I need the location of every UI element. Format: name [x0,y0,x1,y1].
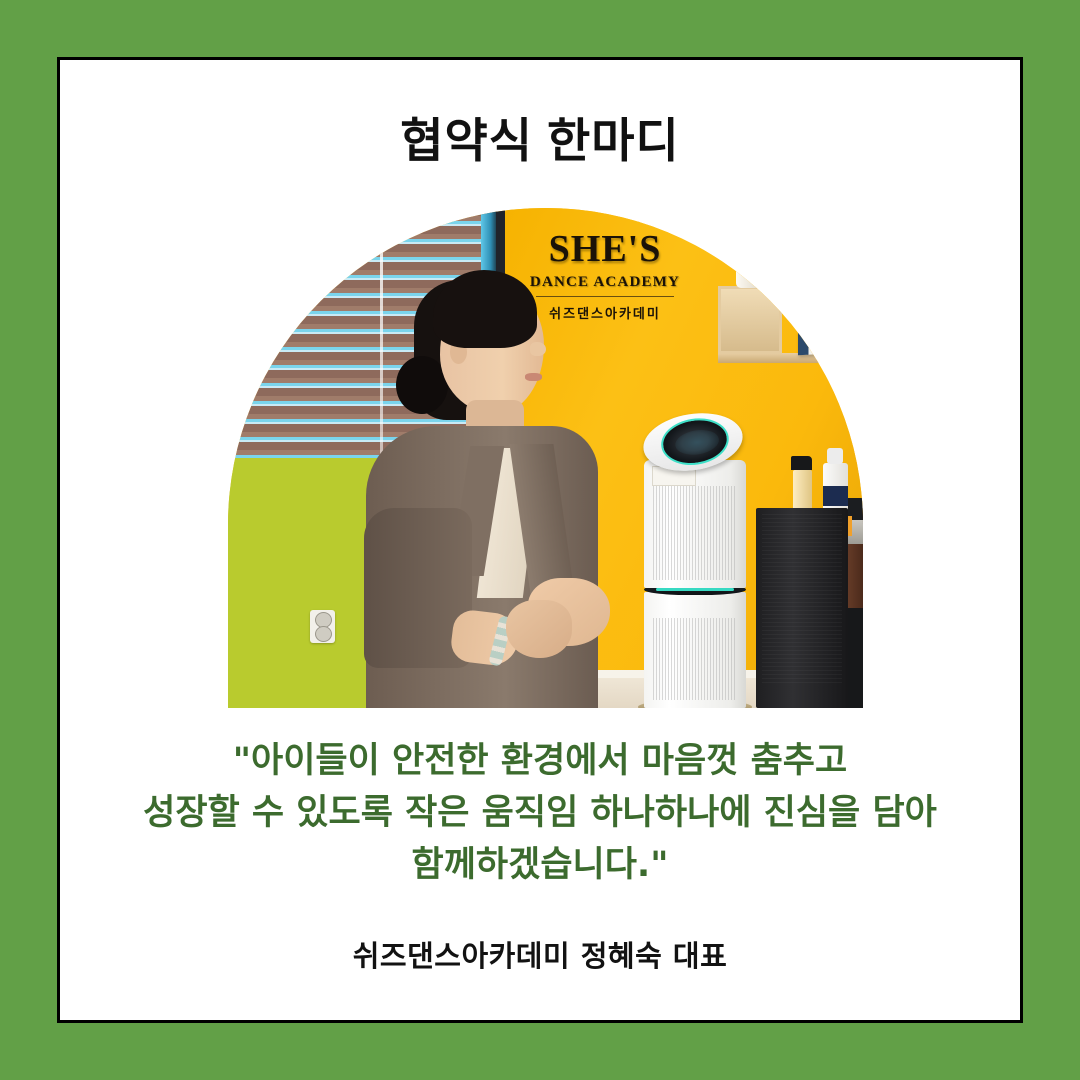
quote-text: "아이들이 안전한 환경에서 마음껏 춤추고 성장할 수 있도록 작은 움직임 … [100,736,980,891]
poster-card: 협약식 한마디 SHE'S DANCE ACADEMY [57,57,1023,1023]
attribution-text: 쉬즈댄스아카데미 정혜숙 대표 [60,933,1020,975]
hand-lower [506,600,572,658]
photo-arch-frame: SHE'S DANCE ACADEMY 쉬즈댄스아카데미 [228,208,863,708]
quote-line-3: 함께하겠습니다." [100,840,980,892]
quote-line-2: 성장할 수 있도록 작은 움직임 하나하나에 진심을 담아 [100,788,980,840]
studio-photo: SHE'S DANCE ACADEMY 쉬즈댄스아카데미 [228,208,863,708]
quote-line-1: "아이들이 안전한 환경에서 마음껏 춤추고 [100,736,980,788]
poster-inner: 협약식 한마디 SHE'S DANCE ACADEMY [60,60,1020,1020]
hair-front [433,270,537,348]
page-title: 협약식 한마디 [60,115,1020,167]
woman-speaking [228,208,863,708]
lips [525,373,542,381]
nose [530,342,546,356]
